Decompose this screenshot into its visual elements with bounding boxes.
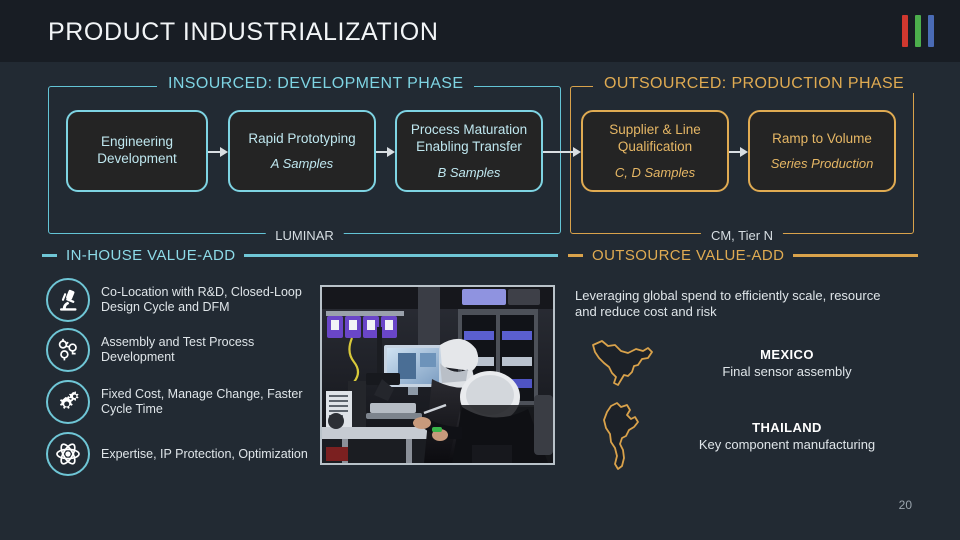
mexico-map-icon <box>575 335 671 391</box>
logo-bar-green <box>915 15 921 47</box>
stage-label: Supplier & Line Qualification <box>591 122 719 156</box>
arrow-right-icon <box>208 146 228 157</box>
outsourced-phase-title: OUTSOURCED: PRODUCTION PHASE <box>593 75 915 93</box>
microscope-icon <box>46 278 90 322</box>
divider-rule <box>793 254 918 257</box>
insourced-phase-title: INSOURCED: DEVELOPMENT PHASE <box>157 75 474 93</box>
list-item-label: Assembly and Test Process Development <box>101 335 314 365</box>
country-name: MEXICO <box>671 347 903 362</box>
arrow-right-icon <box>543 146 581 157</box>
stage-sublabel: B Samples <box>438 165 501 180</box>
stage-label: Ramp to Volume <box>772 131 872 148</box>
stage-sublabel: Series Production <box>771 156 874 171</box>
stage-label: Process Maturation Enabling Transfer <box>405 122 533 156</box>
list-item[interactable]: Expertise, IP Protection, Optimization <box>46 432 314 476</box>
country-description: Final sensor assembly <box>671 364 903 379</box>
country-label-block: MEXICO Final sensor assembly <box>671 347 915 379</box>
atom-icon <box>46 432 90 476</box>
outsource-intro-text: Leveraging global spend to efficiently s… <box>575 288 905 321</box>
divider-rule <box>244 254 558 257</box>
stage-engineering-development[interactable]: Engineering Development <box>66 110 208 192</box>
test-molecules-icon <box>46 328 90 372</box>
dash-marker <box>42 254 57 257</box>
rgb-bars-logo <box>902 15 934 47</box>
stage-rapid-prototyping[interactable]: Rapid Prototyping A Samples <box>228 110 376 192</box>
stage-ramp-to-volume[interactable]: Ramp to Volume Series Production <box>748 110 896 192</box>
slide: PRODUCT INDUSTRIALIZATION INSOURCED: DEV… <box>0 0 960 540</box>
section-title: OUTSOURCE VALUE-ADD <box>592 247 784 264</box>
logo-bar-blue <box>928 15 934 47</box>
arrow-right-icon <box>376 146 395 157</box>
section-title: IN-HOUSE VALUE-ADD <box>66 247 235 264</box>
list-item-label: Fixed Cost, Manage Change, Faster Cycle … <box>101 387 314 417</box>
country-name: THAILAND <box>671 420 903 435</box>
country-label-block: THAILAND Key component manufacturing <box>671 420 915 452</box>
slide-header: PRODUCT INDUSTRIALIZATION <box>0 0 960 62</box>
stage-sublabel: A Samples <box>271 156 333 171</box>
insourced-owner-label: LUMINAR <box>265 228 344 243</box>
country-thailand: THAILAND Key component manufacturing <box>575 398 915 474</box>
stage-label: Rapid Prototyping <box>248 131 355 148</box>
list-item[interactable]: Fixed Cost, Manage Change, Faster Cycle … <box>46 380 314 424</box>
list-item-label: Expertise, IP Protection, Optimization <box>101 447 308 462</box>
country-description: Key component manufacturing <box>671 437 903 452</box>
stage-sublabel: C, D Samples <box>615 165 695 180</box>
gears-icon <box>46 380 90 424</box>
outsourced-owner-label: CM, Tier N <box>701 228 783 243</box>
page-title: PRODUCT INDUSTRIALIZATION <box>48 18 439 47</box>
stage-process-maturation[interactable]: Process Maturation Enabling Transfer B S… <box>395 110 543 192</box>
section-header-outsource-value-add: OUTSOURCE VALUE-ADD <box>568 247 918 264</box>
page-number: 20 <box>899 498 912 512</box>
stage-supplier-line-qualification[interactable]: Supplier & Line Qualification C, D Sampl… <box>581 110 729 192</box>
stage-label: Engineering Development <box>76 134 198 168</box>
list-item[interactable]: Assembly and Test Process Development <box>46 328 314 372</box>
list-item[interactable]: Co-Location with R&D, Closed-Loop Design… <box>46 278 314 322</box>
country-mexico: MEXICO Final sensor assembly <box>575 330 915 396</box>
section-header-in-house-value-add: IN-HOUSE VALUE-ADD <box>42 247 558 264</box>
dash-marker <box>568 254 583 257</box>
cleanroom-assembly-photo <box>320 285 555 465</box>
thailand-map-icon <box>575 400 671 472</box>
arrow-right-icon <box>729 146 748 157</box>
list-item-label: Co-Location with R&D, Closed-Loop Design… <box>101 285 314 315</box>
logo-bar-red <box>902 15 908 47</box>
